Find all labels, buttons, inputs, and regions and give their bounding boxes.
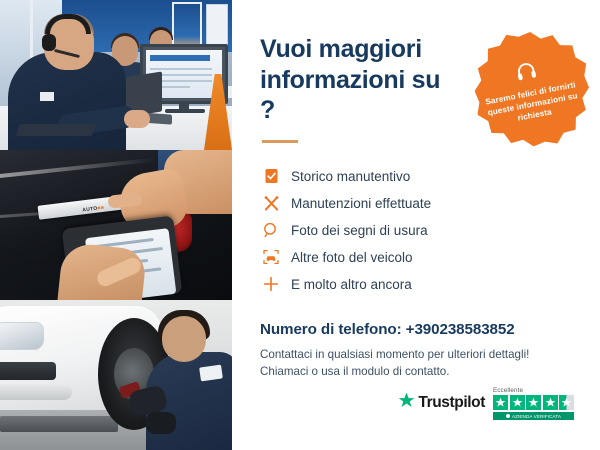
star-icon bbox=[493, 395, 508, 410]
star-icon bbox=[543, 395, 558, 410]
trustpilot-logo: Trustpilot bbox=[398, 392, 485, 414]
phone-line: Numero di telefono: +390238583852 bbox=[260, 321, 576, 338]
list-item: Foto dei segni di usura bbox=[260, 217, 576, 244]
car-headlight bbox=[0, 322, 44, 350]
headline-line-1: Vuoi maggiori bbox=[260, 35, 422, 63]
keyboard bbox=[16, 124, 96, 136]
contact-line-1: Contattaci in qualsiasi momento per ulte… bbox=[260, 346, 576, 364]
star-rating bbox=[493, 395, 574, 410]
verified-check-icon bbox=[506, 414, 510, 418]
star-icon-half bbox=[559, 395, 574, 410]
feature-list: Storico manutentivo Manutenzioni effettu… bbox=[260, 163, 576, 298]
rating-label: Eccellente bbox=[493, 387, 523, 394]
list-item-label: Altre foto del veicolo bbox=[291, 250, 413, 265]
list-item: Storico manutentivo bbox=[260, 163, 576, 190]
crossed-tools-icon bbox=[260, 195, 282, 212]
list-item-label: Foto dei segni di usura bbox=[291, 223, 428, 238]
call-center-agents-photo bbox=[0, 0, 232, 150]
trustpilot-star-icon bbox=[398, 392, 415, 414]
contact-text: Contattaci in qualsiasi momento per ulte… bbox=[260, 346, 576, 382]
plus-icon bbox=[260, 276, 282, 292]
trustpilot-widget[interactable]: Trustpilot Eccellente bbox=[398, 387, 574, 421]
content-panel: Vuoi maggiori informazioni su ? Saremo f… bbox=[232, 0, 600, 450]
trustpilot-rating: Eccellente bbox=[493, 387, 574, 421]
car-lift-arm bbox=[0, 416, 118, 432]
star-icon bbox=[526, 395, 541, 410]
wall-poster-secondary bbox=[206, 4, 228, 46]
phone-number[interactable]: +390238583852 bbox=[406, 321, 515, 338]
trustpilot-wordmark: Trustpilot bbox=[418, 394, 485, 412]
phone-label: Numero di telefono: bbox=[260, 321, 402, 338]
title-divider bbox=[262, 140, 298, 143]
list-item: Manutenzioni effettuate bbox=[260, 190, 576, 217]
page-title: Vuoi maggiori informazioni su ? bbox=[260, 34, 460, 126]
verified-label: AZIENDA VERIFICATA bbox=[512, 414, 561, 419]
promo-banner: AUTO■■ bbox=[0, 0, 600, 450]
list-item-label: E molto altro ancora bbox=[291, 277, 412, 292]
headset-icon bbox=[513, 59, 539, 88]
car-frame-icon bbox=[260, 249, 282, 265]
list-item-label: Storico manutentivo bbox=[291, 169, 410, 184]
star-icon bbox=[510, 395, 525, 410]
clipboard-check-icon bbox=[260, 168, 282, 184]
mechanic-glove-lower bbox=[146, 412, 176, 434]
list-item: Altre foto del veicolo bbox=[260, 244, 576, 271]
request-info-badge: Saremo felici di fornirti queste informa… bbox=[471, 32, 589, 150]
list-item: E molto altro ancora bbox=[260, 271, 576, 298]
wheel-inspection-photo bbox=[0, 300, 232, 450]
list-item-label: Manutenzioni effettuate bbox=[291, 196, 431, 211]
verified-badge: AZIENDA VERIFICATA bbox=[493, 412, 574, 420]
photo-column: AUTO■■ bbox=[0, 0, 232, 450]
contact-line-2: Chiamaci o usa il modulo di contatto. bbox=[260, 363, 576, 381]
headline-line-2: informazioni su ? bbox=[260, 66, 440, 125]
car-inspection-gauge-photo: AUTO■■ bbox=[0, 150, 232, 300]
magnifier-icon bbox=[260, 222, 282, 238]
